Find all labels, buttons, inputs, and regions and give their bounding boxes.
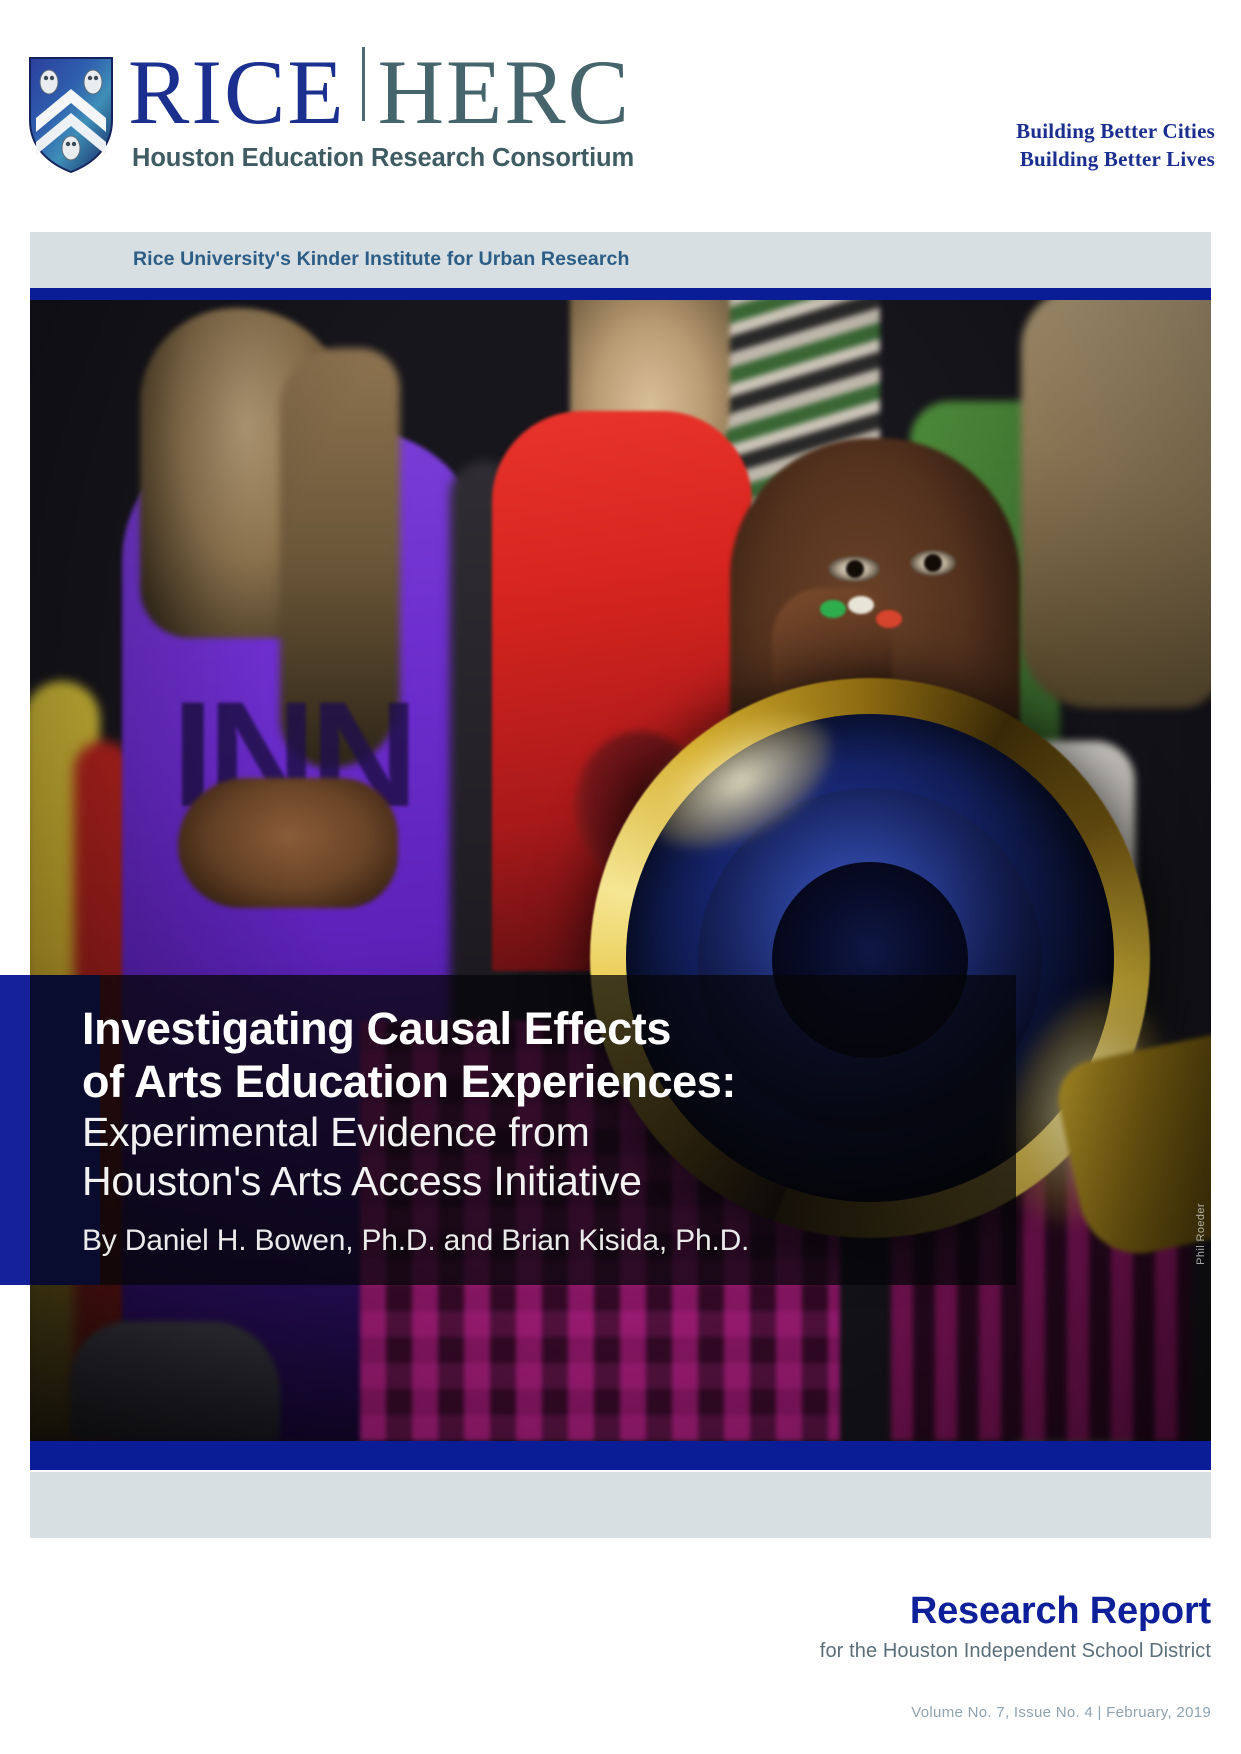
- report-subtitle-line-1: Experimental Evidence from: [82, 1108, 1016, 1157]
- report-title-line-1: Investigating Causal Effects: [82, 1003, 1016, 1056]
- kinder-institute-label: Rice University's Kinder Institute for U…: [133, 248, 630, 271]
- rice-herc-logo: RICE HERC Houston Education Research Con…: [28, 52, 634, 179]
- report-title-line-2: of Arts Education Experiences:: [82, 1056, 1016, 1109]
- tagline-line-1: Building Better Cities: [1016, 118, 1215, 146]
- report-subtitle-line-2: Houston's Arts Access Initiative: [82, 1157, 1016, 1206]
- wordmark-divider: [362, 47, 365, 121]
- report-byline: By Daniel H. Bowen, Ph.D. and Brian Kisi…: [82, 1224, 1016, 1258]
- page-footer: Research Report for the Houston Independ…: [511, 1590, 1211, 1721]
- bottom-gray-band: [30, 1472, 1211, 1538]
- page-header: RICE HERC Houston Education Research Con…: [0, 0, 1241, 232]
- consortium-subtitle: Houston Education Research Consortium: [132, 144, 634, 173]
- tagline-line-2: Building Better Lives: [1016, 146, 1215, 174]
- report-type-label: Research Report: [511, 1590, 1211, 1633]
- volume-issue-label: Volume No. 7, Issue No. 4 | February, 20…: [511, 1704, 1211, 1721]
- district-label: for the Houston Independent School Distr…: [511, 1640, 1211, 1663]
- photo-credit: Phil Roeder: [1195, 1203, 1207, 1265]
- photo-top-rule: [30, 288, 1211, 300]
- rice-owl-shield-icon: [28, 56, 114, 174]
- kinder-tagline: Building Better Cities Building Better L…: [1016, 118, 1215, 173]
- kinder-institute-band: Rice University's Kinder Institute for U…: [30, 232, 1211, 288]
- title-overlay-panel: Investigating Causal Effects of Arts Edu…: [30, 975, 1016, 1285]
- herc-wordmark: HERC: [378, 46, 631, 138]
- rice-wordmark: RICE: [128, 46, 346, 138]
- bottom-blue-rule: [30, 1441, 1211, 1470]
